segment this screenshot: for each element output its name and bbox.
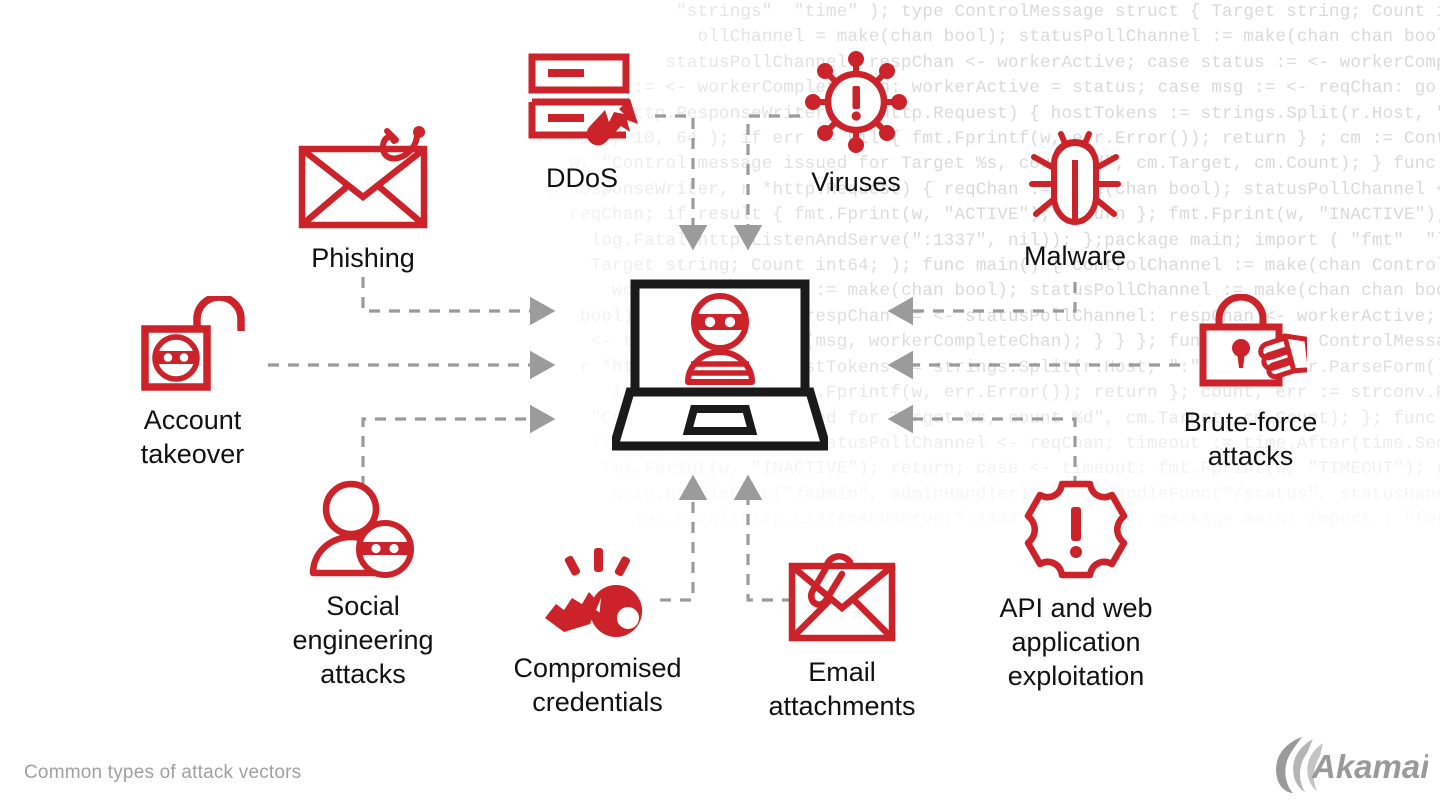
envelope-paperclip-icon xyxy=(786,548,898,649)
open-padlock-mask-icon xyxy=(140,296,246,397)
node-api-web-exploitation[interactable]: API and web application exploitation xyxy=(985,478,1167,693)
broken-key-icon xyxy=(542,548,654,645)
node-viruses[interactable]: Viruses xyxy=(786,50,926,199)
footer-caption: Common types of attack vectors xyxy=(24,762,301,784)
node-label: Brute-force attacks xyxy=(1184,405,1318,473)
node-malware[interactable]: Malware xyxy=(995,124,1155,273)
node-account-takeover[interactable]: Account takeover xyxy=(110,296,275,471)
padlock-fist-icon xyxy=(1195,294,1307,399)
node-label: Compromised credentials xyxy=(513,651,681,719)
node-compromised-credentials[interactable]: Compromised credentials xyxy=(495,548,700,719)
server-bomb-icon xyxy=(526,52,638,155)
diagram-canvas: "strings" "time" ); type ControlMessage … xyxy=(0,0,1440,810)
node-label: Phishing xyxy=(311,241,415,275)
envelope-hook-icon xyxy=(295,124,431,235)
bug-icon xyxy=(1025,124,1125,233)
center-node-target-laptop xyxy=(612,278,828,463)
virus-alert-icon xyxy=(804,50,908,159)
node-ddos[interactable]: DDoS xyxy=(512,52,652,195)
person-mask-icon xyxy=(307,480,419,583)
akamai-wordmark: Akamai xyxy=(1311,748,1428,785)
node-social-engineering[interactable]: Social engineering attacks xyxy=(280,480,446,691)
burst-alert-icon xyxy=(1024,478,1128,585)
node-label: Social engineering attacks xyxy=(292,589,433,691)
node-label: Account takeover xyxy=(141,403,245,471)
node-label: API and web application exploitation xyxy=(999,591,1152,693)
node-label: Email attachments xyxy=(768,655,915,723)
node-label: Viruses xyxy=(811,165,901,199)
node-brute-force[interactable]: Brute-force attacks xyxy=(1168,294,1333,473)
node-email-attachments[interactable]: Email attachments xyxy=(756,548,928,723)
node-label: Malware xyxy=(1024,239,1126,273)
akamai-logo: Akamai xyxy=(1268,733,1428,795)
laptop-with-hacker-icon xyxy=(612,278,828,463)
node-label: DDoS xyxy=(546,161,618,195)
node-phishing[interactable]: Phishing xyxy=(278,124,448,275)
